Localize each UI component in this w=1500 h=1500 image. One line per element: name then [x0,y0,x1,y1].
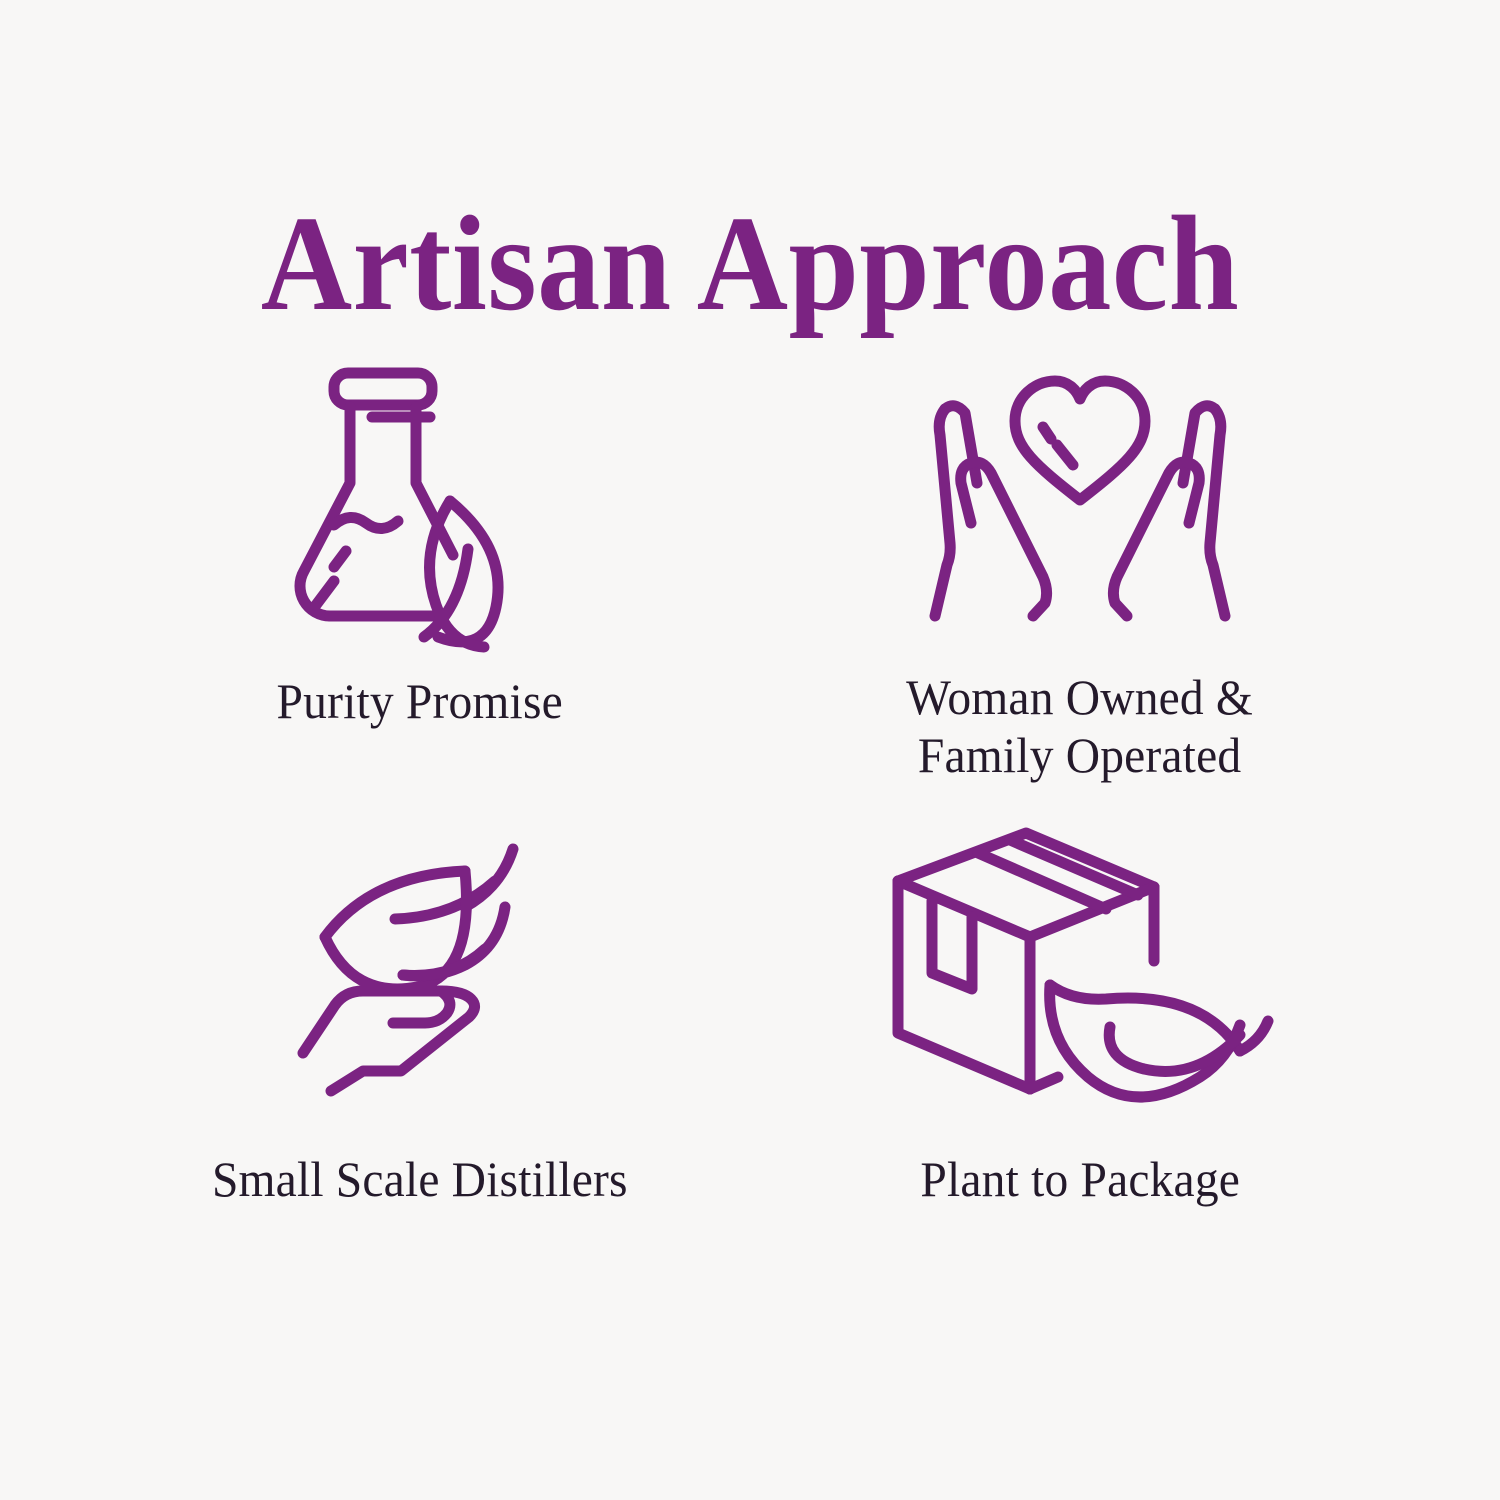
hands-holding-heart-icon [915,350,1245,650]
feature-label-line-1: Woman Owned & [907,669,1254,725]
feature-item-small-scale-distillers: Small Scale Distillers [90,820,750,1290]
feature-label-line-1: Plant to Package [920,1151,1240,1207]
hand-holding-leaf-icon [295,820,545,1120]
feature-item-purity-promise: Purity Promise [90,350,750,820]
feature-label-woman-owned: Woman Owned & Family Operated [907,668,1254,784]
feature-label-line-2: Family Operated [907,726,1254,784]
feature-label-line-1: Purity Promise [277,673,563,729]
page-title: Artisan Approach [261,195,1239,334]
feature-item-plant-to-package: Plant to Package [750,820,1410,1290]
artisan-approach-panel: Artisan Approach [0,0,1500,1500]
feature-label-small-scale-distillers: Small Scale Distillers [212,1150,628,1208]
feature-label-plant-to-package: Plant to Package [920,1150,1240,1208]
feature-label-purity-promise: Purity Promise [277,672,563,730]
feature-label-line-1: Small Scale Distillers [212,1151,628,1207]
feature-grid: Purity Promise [90,350,1410,1290]
flask-leaf-icon [290,350,550,650]
feature-item-woman-owned: Woman Owned & Family Operated [750,350,1410,820]
package-box-leaf-icon [880,820,1280,1120]
